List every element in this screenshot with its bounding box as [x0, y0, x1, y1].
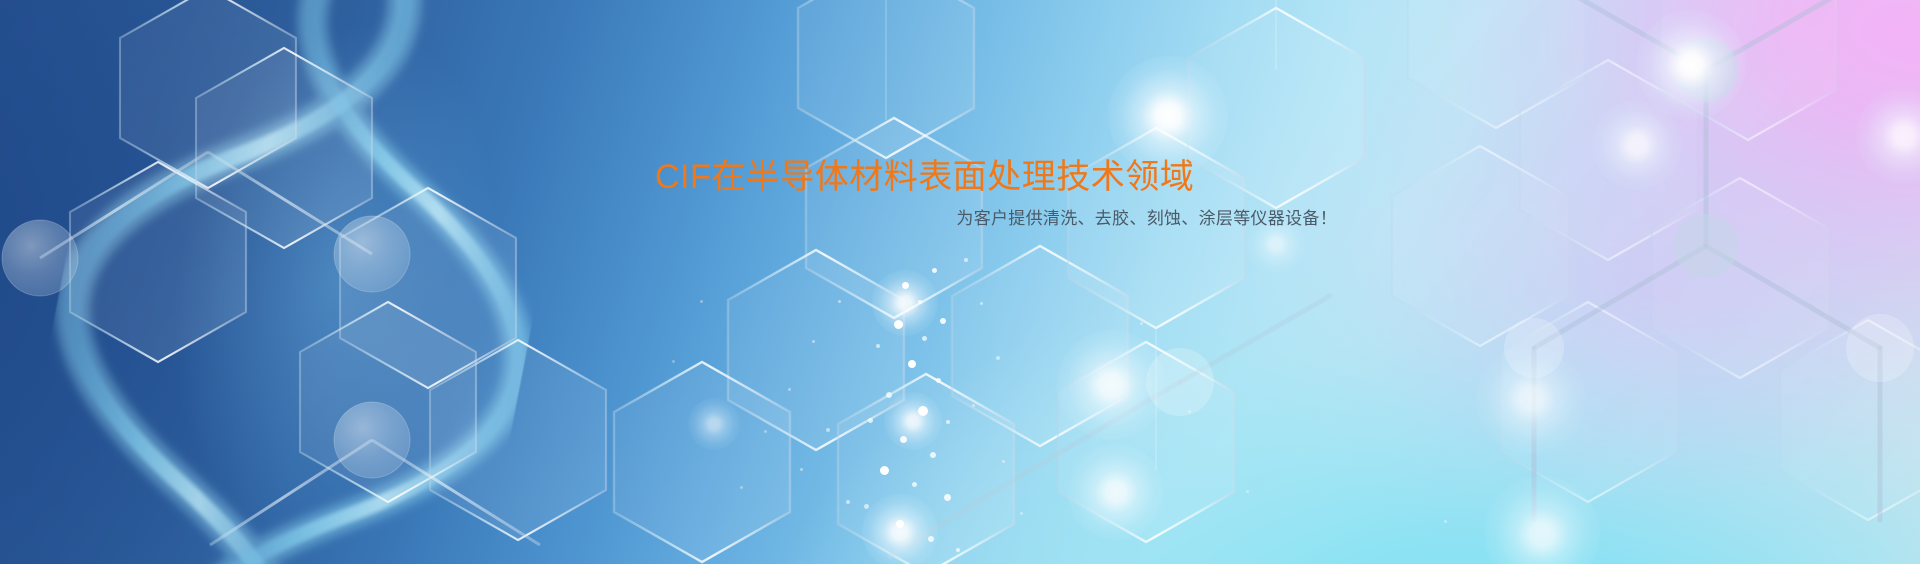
hero-banner: CIF在半导体材料表面处理技术领域 为客户提供清洗、去胶、刻蚀、涂层等仪器设备！ — [0, 0, 1920, 564]
hexagon-molecule-lattice — [0, 0, 1920, 564]
